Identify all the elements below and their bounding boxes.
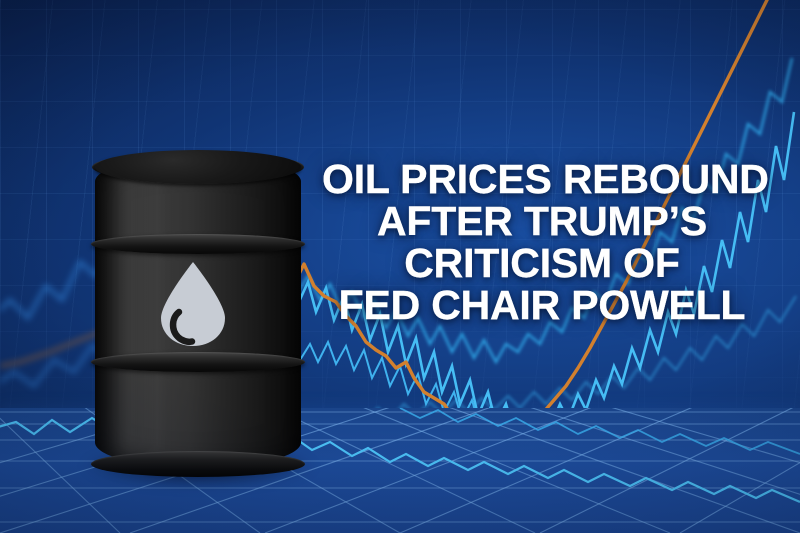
headline-line-3: CRITICISM OF — [322, 242, 762, 284]
headline-line-4: FED CHAIR POWELL — [322, 284, 762, 326]
headline: OIL PRICES REBOUND AFTER TRUMP’S CRITICI… — [322, 158, 762, 326]
banner-canvas: OIL PRICES REBOUND AFTER TRUMP’S CRITICI… — [0, 0, 800, 533]
headline-line-1: OIL PRICES REBOUND — [322, 158, 762, 200]
headline-line-2: AFTER TRUMP’S — [322, 200, 762, 242]
